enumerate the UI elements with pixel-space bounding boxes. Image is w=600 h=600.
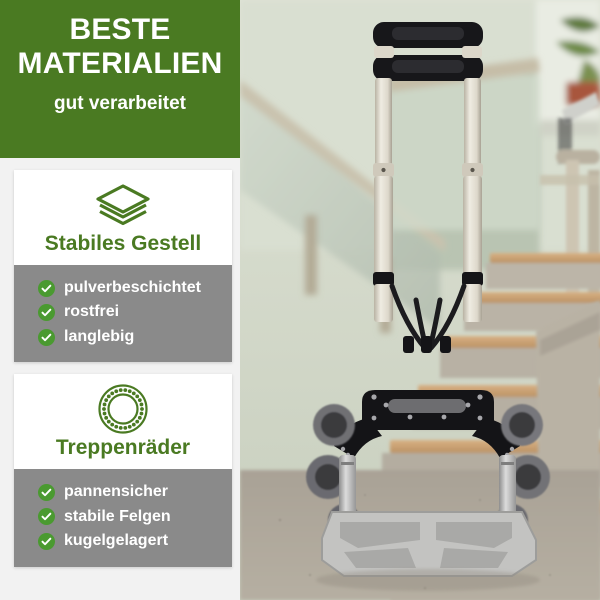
list-item-label: rostfrei <box>64 303 119 321</box>
feature-card-treppenraeder: Treppenräder pannensicher stabile Felgen <box>14 374 232 566</box>
card-header: Stabiles Gestell <box>14 170 232 265</box>
hero-subtitle: gut verarbeitet <box>10 94 230 115</box>
card-header: Treppenräder <box>14 374 232 469</box>
list-item-label: stabile Felgen <box>64 508 171 526</box>
product-feature-banner: BESTE MATERIALIEN gut verarbeitet Stabil… <box>0 0 600 600</box>
list-item-label: kugelgelagert <box>64 532 168 550</box>
list-item: rostfrei <box>14 301 232 323</box>
check-circle-icon <box>38 533 55 550</box>
list-item-label: langlebig <box>64 328 134 346</box>
list-item-label: pannensicher <box>64 483 168 501</box>
feature-list: pannensicher stabile Felgen kugelgelager… <box>14 469 232 566</box>
left-info-column: BESTE MATERIALIEN gut verarbeitet Stabil… <box>0 0 240 600</box>
check-circle-icon <box>38 304 55 321</box>
list-item: pannensicher <box>14 481 232 503</box>
list-item: pulverbeschichtet <box>14 277 232 299</box>
feature-card-stabiles-gestell: Stabiles Gestell pulverbeschichtet rostf… <box>14 170 232 362</box>
card-title: Treppenräder <box>22 436 224 459</box>
ball-bearing-wheel-icon <box>22 386 224 432</box>
hero-title-line1: BESTE <box>10 14 230 46</box>
hero-banner: BESTE MATERIALIEN gut verarbeitet <box>0 0 240 158</box>
list-item: langlebig <box>14 326 232 348</box>
stacked-layers-icon <box>22 182 224 228</box>
check-circle-icon <box>38 329 55 346</box>
card-title: Stabiles Gestell <box>22 232 224 255</box>
feature-card-list: Stabiles Gestell pulverbeschichtet rostf… <box>0 158 240 579</box>
check-circle-icon <box>38 484 55 501</box>
hero-title-line2: MATERIALIEN <box>10 48 230 80</box>
stair-climbing-hand-truck-photo <box>240 0 600 600</box>
check-circle-icon <box>38 280 55 297</box>
check-circle-icon <box>38 508 55 525</box>
feature-list: pulverbeschichtet rostfrei langlebig <box>14 265 232 362</box>
list-item: kugelgelagert <box>14 530 232 552</box>
list-item-label: pulverbeschichtet <box>64 279 201 297</box>
list-item: stabile Felgen <box>14 506 232 528</box>
